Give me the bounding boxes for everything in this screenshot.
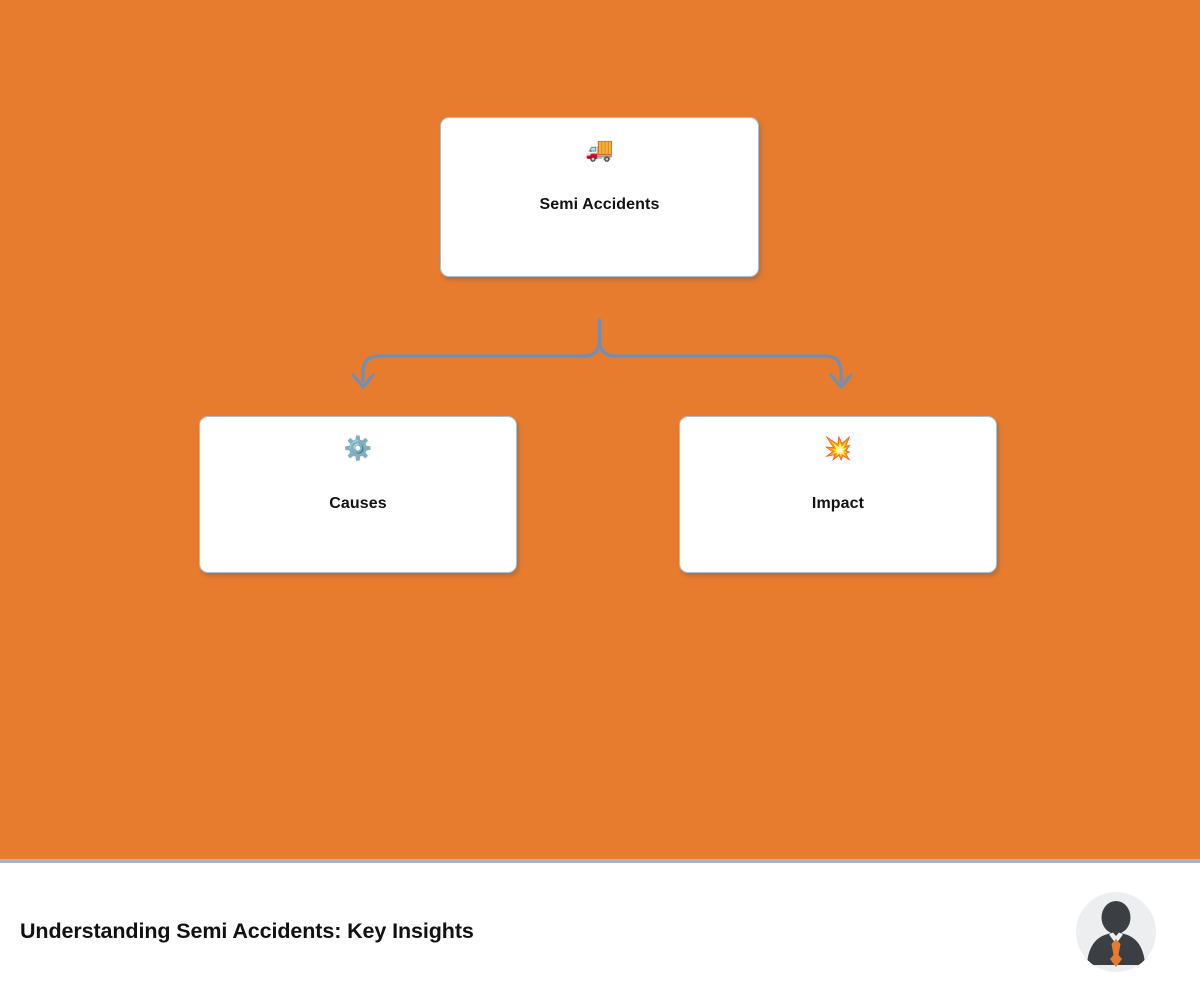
page-title: Understanding Semi Accidents: Key Insigh…: [20, 919, 474, 944]
delivery-truck-icon: 🚚: [585, 139, 614, 165]
connector-root-to-causes: [363, 320, 600, 381]
avatar: [1076, 892, 1156, 972]
mindmap-node-impact-label: Impact: [802, 495, 874, 513]
connector-root-to-impact: [600, 320, 842, 381]
arrowhead-impact-icon: [831, 375, 851, 387]
mindmap-page: 🚚 Semi Accidents ⚙️ Causes 💥 Impact Unde…: [0, 0, 1200, 1000]
mindmap-node-causes-label: Causes: [319, 495, 397, 513]
mindmap-node-causes[interactable]: ⚙️ Causes: [199, 416, 517, 573]
mindmap-node-impact[interactable]: 💥 Impact: [679, 416, 997, 573]
arrowhead-causes-icon: [353, 375, 373, 387]
gear-icon: ⚙️: [344, 438, 373, 464]
mindmap-node-root[interactable]: 🚚 Semi Accidents: [440, 117, 759, 277]
avatar-person-icon: [1076, 892, 1156, 972]
collision-icon: 💥: [824, 438, 853, 464]
footer-bar: Understanding Semi Accidents: Key Insigh…: [0, 863, 1200, 1000]
mindmap-canvas[interactable]: 🚚 Semi Accidents ⚙️ Causes 💥 Impact: [0, 0, 1200, 859]
mindmap-node-root-label: Semi Accidents: [530, 196, 670, 214]
